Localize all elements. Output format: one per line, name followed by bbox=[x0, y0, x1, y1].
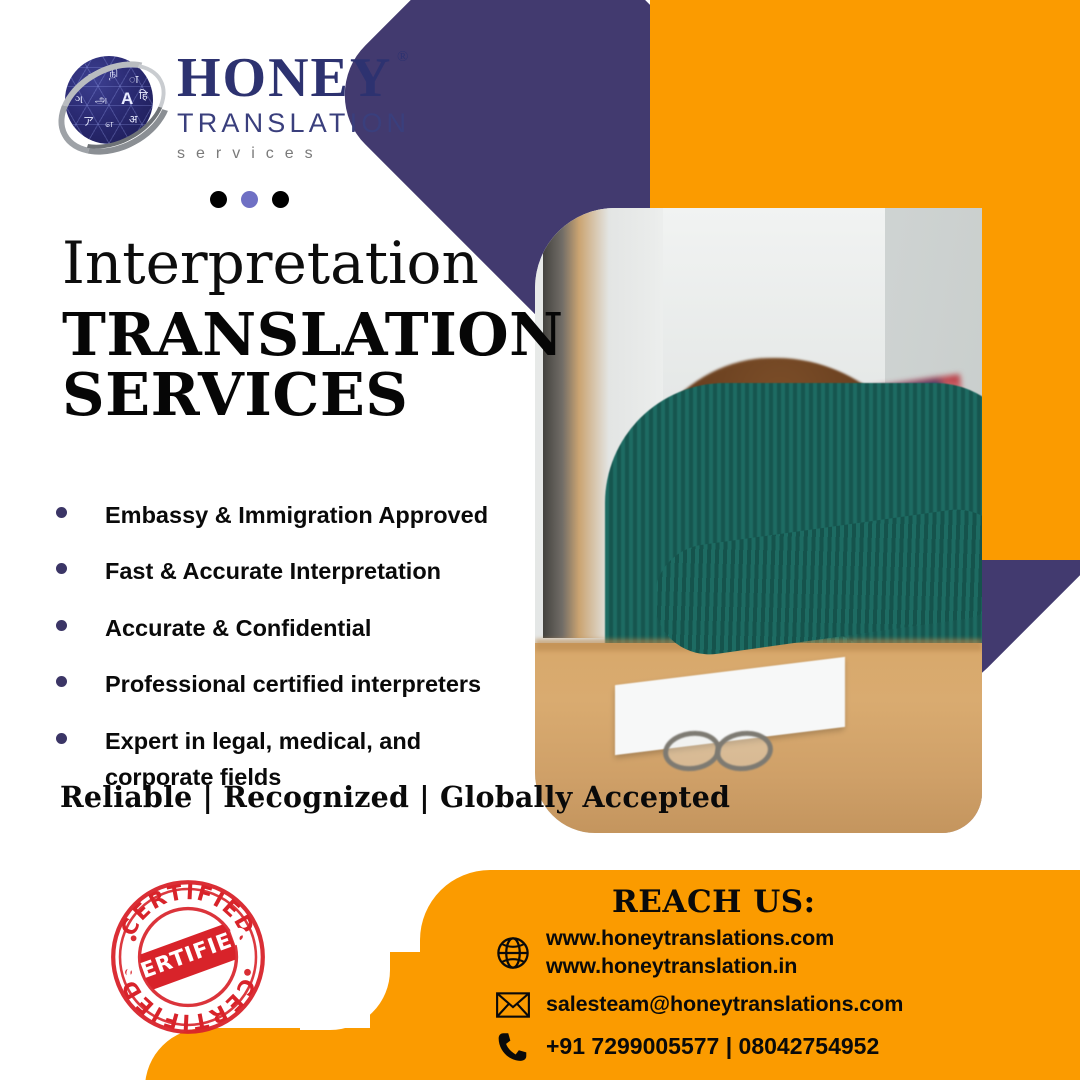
headline-script-line: Interpretation bbox=[62, 234, 564, 292]
interpreter-photo bbox=[535, 208, 982, 833]
contact-phone[interactable]: +91 7299005577 | 08042754952 bbox=[546, 1032, 879, 1061]
bullet-dot-icon bbox=[56, 733, 67, 744]
logo-dot-3 bbox=[272, 191, 289, 208]
envelope-icon bbox=[492, 990, 534, 1020]
logo-wordmark: HONEY® TRANSLATION services bbox=[177, 48, 410, 163]
logo-name-secondary: TRANSLATION bbox=[177, 107, 410, 141]
list-item: Accurate & Confidential bbox=[56, 610, 526, 646]
bullet-dot-icon bbox=[56, 563, 67, 574]
poster-canvas: க நி ा ગ அ A हि ア எ अ HONEY® TRANSLATION… bbox=[0, 0, 1080, 1080]
list-item: Fast & Accurate Interpretation bbox=[56, 553, 526, 589]
certified-stamp-icon: CERTIFIED CERTIFIED ★ ★ ★ ★ ★ ★ CERTIFIE… bbox=[103, 872, 273, 1042]
bullet-dot-icon bbox=[56, 620, 67, 631]
list-item-label: Fast & Accurate Interpretation bbox=[105, 553, 441, 589]
contact-website-lines[interactable]: www.honeytranslations.com www.honeytrans… bbox=[546, 925, 834, 980]
logo-dot-2 bbox=[241, 191, 258, 208]
logo-name-primary-text: HONEY bbox=[177, 47, 392, 109]
contact-website-2[interactable]: www.honeytranslation.in bbox=[546, 953, 834, 981]
headline-line-2: SERVICES bbox=[62, 362, 564, 428]
list-item-label: Embassy & Immigration Approved bbox=[105, 497, 488, 533]
photo-inner bbox=[535, 208, 982, 833]
page-title: Interpretation TRANSLATION SERVICES bbox=[62, 234, 564, 428]
globe-icon bbox=[492, 935, 534, 971]
globe-languages-icon: க நி ा ગ அ A हि ア எ अ bbox=[55, 48, 163, 160]
contact-row-website[interactable]: www.honeytranslations.com www.honeytrans… bbox=[492, 925, 1052, 980]
contact-row-phone[interactable]: +91 7299005577 | 08042754952 bbox=[492, 1030, 1052, 1064]
contact-email[interactable]: salesteam@honeytranslations.com bbox=[546, 991, 903, 1019]
headline-line-1: TRANSLATION bbox=[62, 302, 564, 368]
logo-name-tertiary: services bbox=[177, 145, 410, 163]
contact-row-email[interactable]: salesteam@honeytranslations.com bbox=[492, 990, 1052, 1020]
contact-list: www.honeytranslations.com www.honeytrans… bbox=[492, 925, 1052, 1074]
svg-text:★ ★ ★: ★ ★ ★ bbox=[189, 977, 221, 997]
logo-name-primary: HONEY® bbox=[177, 52, 392, 105]
photo-eyeglasses bbox=[663, 735, 793, 775]
bullet-dot-icon bbox=[56, 676, 67, 687]
registered-mark-icon: ® bbox=[397, 50, 410, 64]
logo-dots bbox=[210, 191, 289, 208]
brand-logo[interactable]: க நி ा ગ அ A हि ア எ अ HONEY® TRANSLATION… bbox=[55, 48, 410, 163]
list-item-label: Accurate & Confidential bbox=[105, 610, 371, 646]
phone-icon bbox=[492, 1030, 534, 1064]
tagline: Reliable | Recognized | Globally Accepte… bbox=[60, 780, 730, 814]
list-item: Embassy & Immigration Approved bbox=[56, 497, 526, 533]
bullet-dot-icon bbox=[56, 507, 67, 518]
contact-website-1[interactable]: www.honeytranslations.com bbox=[546, 925, 834, 953]
feature-list: Embassy & Immigration Approved Fast & Ac… bbox=[56, 497, 526, 816]
logo-dot-1 bbox=[210, 191, 227, 208]
list-item: Professional certified interpreters bbox=[56, 666, 526, 702]
contact-title: REACH US: bbox=[612, 884, 816, 920]
list-item-label: Professional certified interpreters bbox=[105, 666, 481, 702]
